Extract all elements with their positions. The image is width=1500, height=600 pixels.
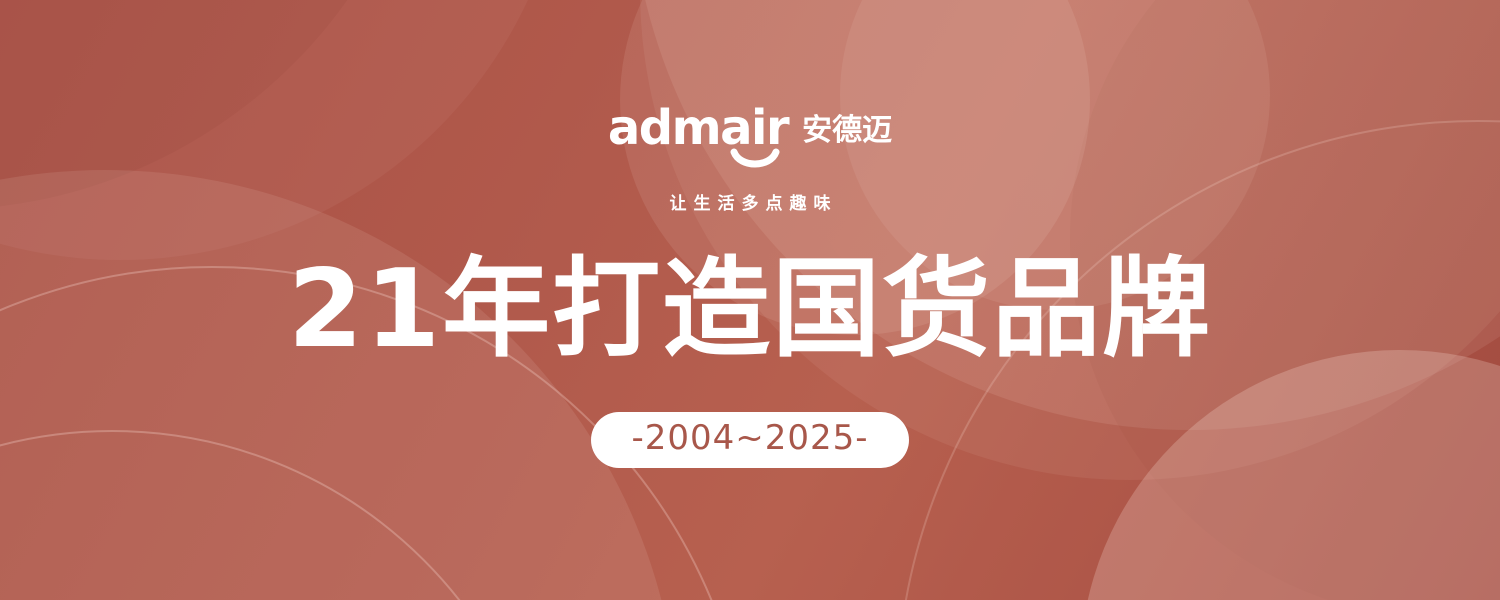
wordmark-wrapper: admair [608,104,788,152]
banner-content: admair 安德迈 让生活多点趣味 21年打造国货品牌 -2004~2025- [0,0,1500,600]
brand-wordmark: admair [608,104,788,152]
year-badge-row: -2004~2025- [0,412,1500,468]
headline-text: 21年打造国货品牌 [0,245,1500,375]
brand-logo-lockup: admair 安德迈 [0,104,1500,152]
brand-anniversary-banner: admair 安德迈 让生活多点趣味 21年打造国货品牌 -2004~2025- [0,0,1500,600]
brand-tagline: 让生活多点趣味 [0,189,1500,214]
brand-chinese-name: 安德迈 [802,116,892,146]
year-range-badge: -2004~2025- [591,412,908,468]
smile-curve-icon [730,148,780,172]
